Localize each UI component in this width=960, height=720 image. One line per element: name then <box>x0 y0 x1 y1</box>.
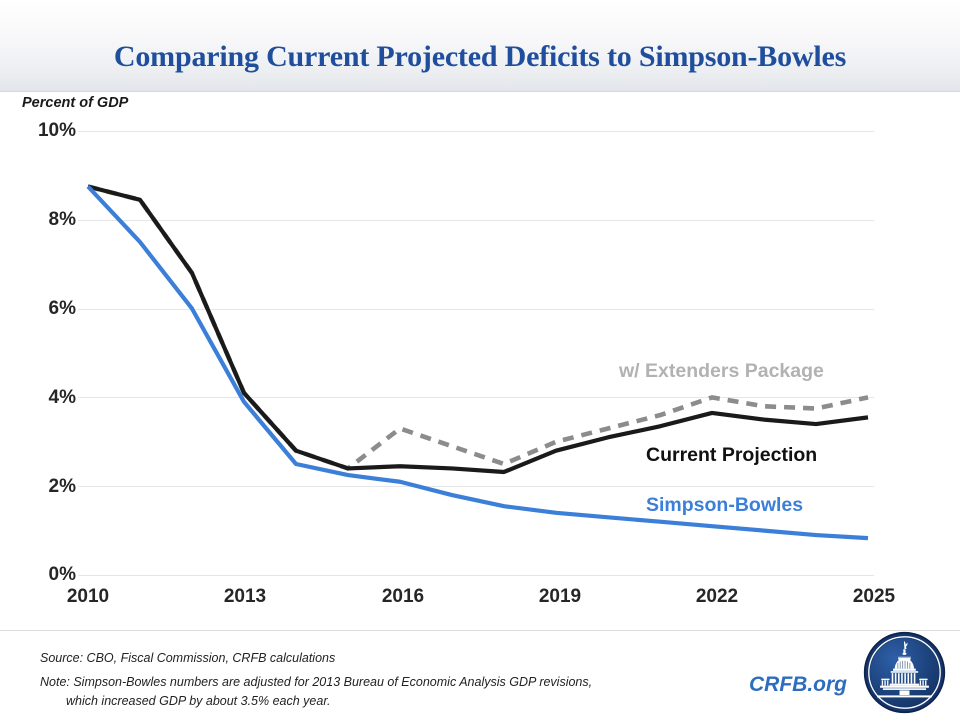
footnote-note-line1: Note: Simpson-Bowles numbers are adjuste… <box>40 675 592 689</box>
series-line-w-extenders-package <box>88 187 868 469</box>
gridline-0 <box>78 575 874 576</box>
y-tick-label-4: 4% <box>16 387 76 409</box>
y-tick-label-6: 6% <box>16 298 76 320</box>
x-tick-label-2013: 2013 <box>224 586 266 608</box>
brand-label: CRFB.org <box>749 673 847 697</box>
x-tick-label-2010: 2010 <box>67 586 109 608</box>
series-label-simpson-bowles: Simpson-Bowles <box>646 494 803 517</box>
series-label-current-projection: Current Projection <box>646 444 817 467</box>
footnote-source: Source: CBO, Fiscal Commission, CRFB cal… <box>40 651 335 665</box>
x-tick-label-2025: 2025 <box>853 586 895 608</box>
y-tick-label-2: 2% <box>16 476 76 498</box>
y-tick-label-8: 8% <box>16 209 76 231</box>
x-tick-label-2019: 2019 <box>539 586 581 608</box>
y-tick-label-10: 10% <box>16 120 76 142</box>
capitol-dome-logo <box>863 631 946 714</box>
footer-divider <box>0 630 960 631</box>
y-tick-label-0: 0% <box>16 564 76 586</box>
page-title: Comparing Current Projected Deficits to … <box>0 40 960 74</box>
x-tick-label-2022: 2022 <box>696 586 738 608</box>
header-divider <box>0 91 960 92</box>
chart-container: Comparing Current Projected Deficits to … <box>0 0 960 720</box>
footnote-note-line2: which increased GDP by about 3.5% each y… <box>66 694 331 708</box>
series-label-extenders: w/ Extenders Package <box>619 360 824 383</box>
x-tick-label-2016: 2016 <box>382 586 424 608</box>
y-axis-unit-label: Percent of GDP <box>22 95 128 111</box>
